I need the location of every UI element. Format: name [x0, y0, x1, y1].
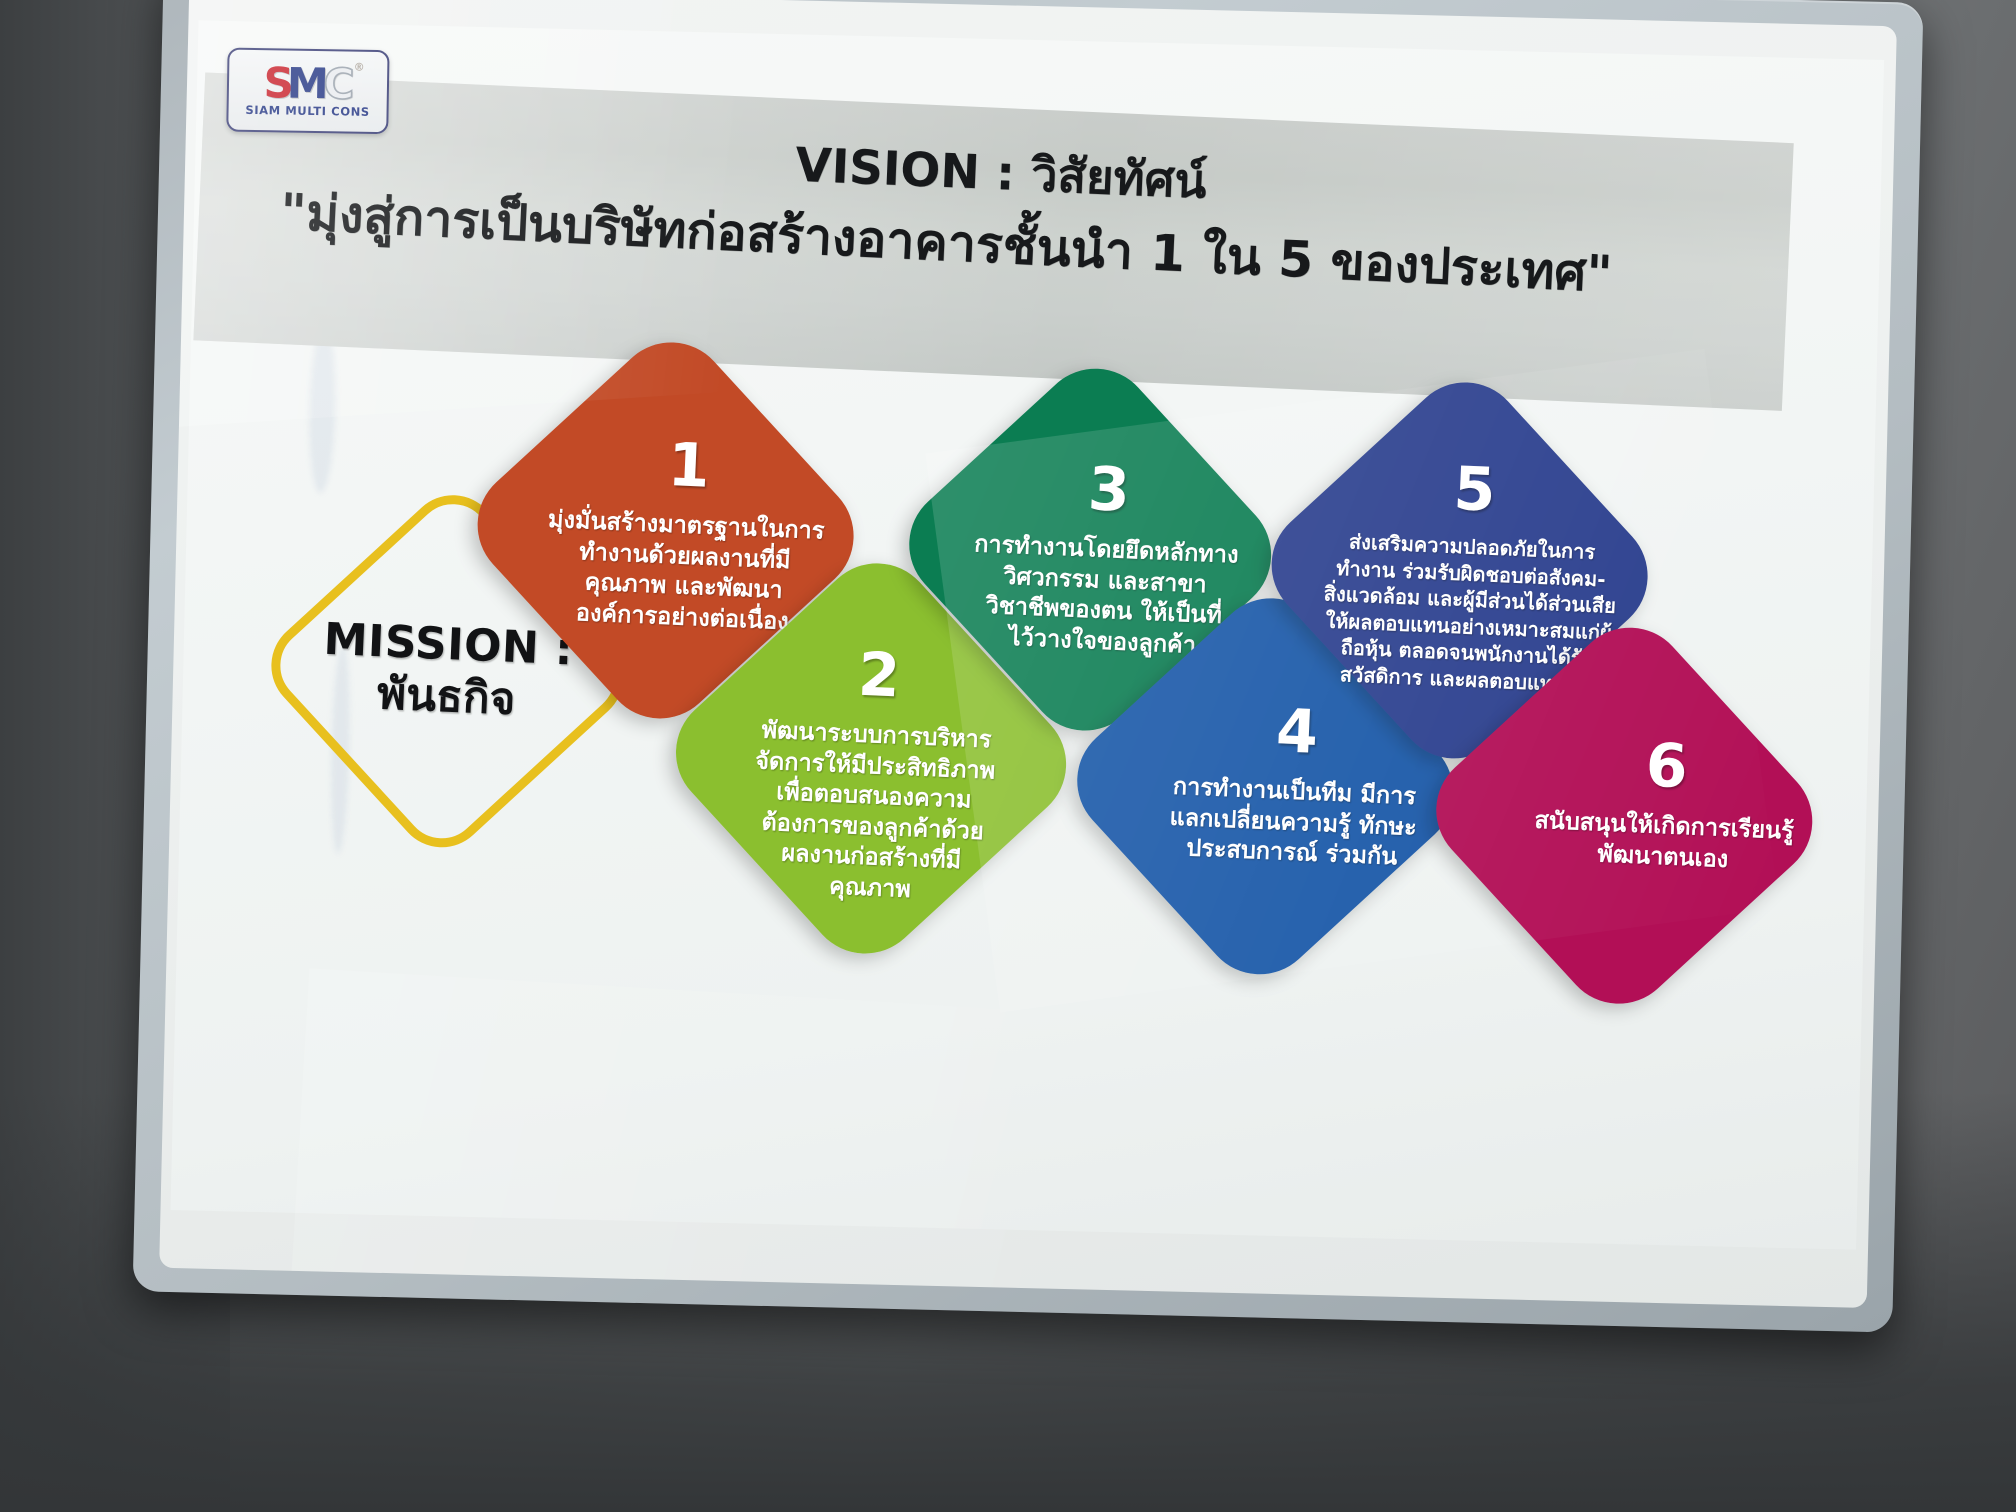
registered-trademark-icon: ® [354, 62, 363, 73]
mission-item-4-number: 4 [1275, 701, 1319, 763]
mission-diagram: MISSION : พันธกิจ 1 มุ่งมั่นสร้างมาตรฐาน… [170, 304, 1879, 1115]
smc-logo-wordmark: SMC ® [263, 63, 353, 104]
mission-item-3-content: 3 การทำงานโดยยึดหลักทาง วิศวกรรม และสาขา… [952, 406, 1262, 663]
mission-item-3-text: การทำงานโดยยึดหลักทาง วิศวกรรม และสาขา ว… [970, 528, 1239, 661]
mission-diamond-content: MISSION : พันธกิจ [320, 614, 574, 728]
mission-item-1-number: 1 [667, 435, 711, 497]
smc-logo: SMC ® SIAM MULTI CONS [226, 48, 389, 135]
mission-item-6-text: สนับสนุนให้เกิดการเรียนรู้ พัฒนาตนเอง [1532, 804, 1794, 876]
mission-item-1-content: 1 มุ่งมั่นสร้างมาตรฐานในการ ทำงานด้วยผลง… [532, 384, 842, 639]
mission-item-2-text: พัฒนาระบบการบริหาร จัดการให้มีประสิทธิภา… [749, 714, 997, 907]
mission-item-3-number: 3 [1087, 459, 1131, 521]
sign-sleeve-inner: SMC ® SIAM MULTI CONS VISION : วิสัยทัศน… [159, 0, 1897, 1308]
poster-sheet: SMC ® SIAM MULTI CONS VISION : วิสัยทัศน… [170, 20, 1884, 1249]
logo-letter-c: C [323, 64, 352, 104]
logo-letter-m: M [287, 63, 327, 104]
mission-item-4-text: การทำงานเป็นทีม มีการ แลกเปลี่ยนความรู้ … [1167, 770, 1418, 872]
mission-subtitle: พันธกิจ [320, 666, 572, 729]
mission-item-2-number: 2 [857, 645, 901, 707]
laminated-sign-sleeve: SMC ® SIAM MULTI CONS VISION : วิสัยทัศน… [133, 0, 1924, 1333]
mission-item-5-number: 5 [1452, 459, 1496, 521]
mission-item-6-number: 6 [1644, 735, 1688, 797]
mission-item-6-content: 6 สนับสนุนให้เกิดการเรียนรู้ พัฒนาตนเอง [1510, 678, 1823, 878]
